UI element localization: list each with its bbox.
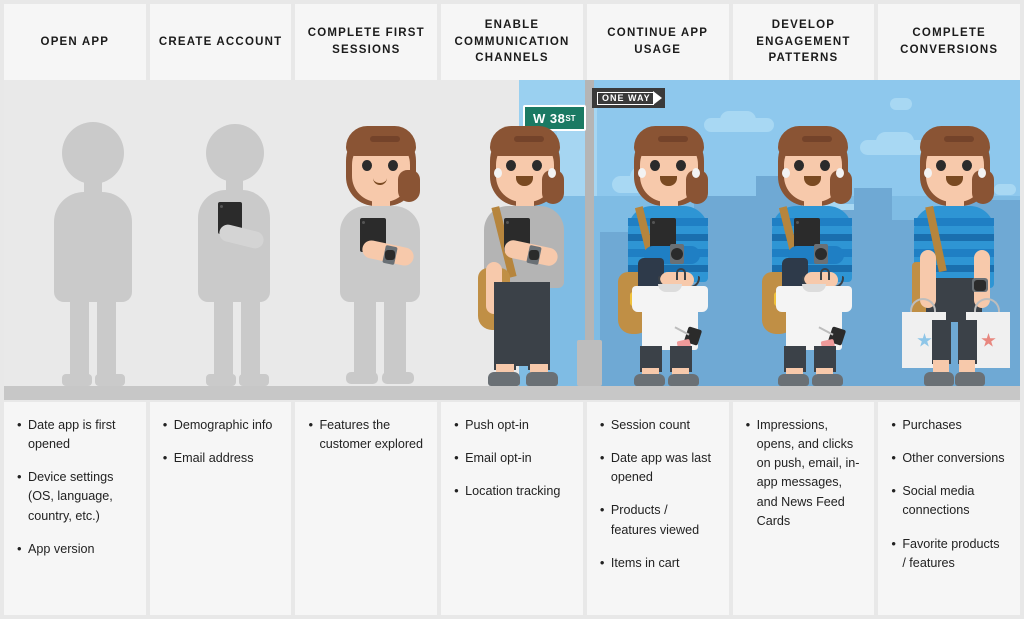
- detail-column-enable-communication-channels: Push opt-in Email opt-in Location tracki…: [441, 402, 583, 615]
- stage-header-complete-first-sessions: COMPLETE FIRST SESSIONS: [295, 4, 437, 80]
- detail-list: Session count Date app was last opened P…: [600, 416, 715, 573]
- one-way-sign: ONE WAY: [592, 88, 665, 108]
- stage-detail-row: Date app is first opened Device settings…: [0, 400, 1024, 619]
- watch-face: [815, 248, 827, 260]
- leg-right: [384, 298, 406, 378]
- hanger-hook: [676, 268, 686, 280]
- hair-wave: [944, 136, 974, 142]
- stripe-2: [914, 234, 994, 241]
- illustration-scene: W 38ST ONE WAY: [4, 80, 1020, 400]
- detail-column-continue-app-usage: Session count Date app was last opened P…: [587, 402, 729, 615]
- eye-left: [506, 160, 516, 171]
- eye-right: [820, 160, 830, 171]
- shoe-left: [778, 374, 809, 386]
- shoe-left: [634, 374, 665, 386]
- stage-label: CREATE ACCOUNT: [159, 34, 283, 51]
- detail-list: Demographic info Email address: [163, 416, 278, 468]
- stage-header-enable-communication-channels: ENABLE COMMUNICATION CHANNELS: [441, 4, 583, 80]
- watch-face: [385, 250, 395, 260]
- figure-woman-shopping-bags: [900, 122, 1012, 386]
- shoe-left: [346, 372, 378, 384]
- detail-column-develop-engagement-patterns: Impressions, opens, and clicks on push, …: [733, 402, 875, 615]
- figure-silhouette-plain: [40, 118, 150, 386]
- stage-label: DEVELOP ENGAGEMENT PATTERNS: [739, 17, 869, 67]
- earring-left: [782, 168, 790, 178]
- shoe-left: [62, 374, 92, 386]
- list-item: Email opt-in: [454, 449, 569, 468]
- hanger-hook: [820, 268, 830, 280]
- sidewalk-ground: [4, 386, 1020, 400]
- shoe-left: [488, 372, 520, 386]
- list-item: Push opt-in: [454, 416, 569, 435]
- list-item: Items in cart: [600, 554, 715, 573]
- leg-left: [70, 296, 89, 382]
- list-item: Other conversions: [891, 449, 1006, 468]
- tshirt-sleeve-left: [776, 286, 794, 312]
- eye-right: [676, 160, 686, 171]
- earring-right: [548, 168, 556, 178]
- stage-header-complete-conversions: COMPLETE CONVERSIONS: [878, 4, 1020, 80]
- figure-woman-gray-phone: [326, 122, 438, 386]
- leg-left: [214, 296, 233, 382]
- phone-camera: [362, 221, 365, 224]
- phone-camera: [652, 221, 655, 224]
- list-item: Favorite products / features: [891, 535, 1006, 573]
- list-item: Features the customer explored: [308, 416, 423, 454]
- arrow-right-icon: [653, 91, 662, 105]
- list-item: App version: [17, 540, 132, 559]
- shoe-right: [812, 374, 843, 386]
- shoe-right: [239, 374, 269, 386]
- stage-label: OPEN APP: [41, 34, 110, 51]
- tshirt-sleeve-right: [834, 286, 852, 312]
- shoe-left: [924, 372, 954, 386]
- eye-left: [794, 160, 804, 171]
- ankle-left: [933, 360, 949, 372]
- shoe-right: [95, 374, 125, 386]
- earring-right: [692, 168, 700, 178]
- hair-wave: [514, 136, 544, 142]
- leg-left: [354, 298, 376, 378]
- shoe-left: [206, 374, 236, 386]
- detail-list: Purchases Other conversions Social media…: [891, 416, 1006, 573]
- stage-label: ENABLE COMMUNICATION CHANNELS: [447, 17, 577, 67]
- shoe-right: [955, 372, 985, 386]
- eye-right: [962, 160, 972, 171]
- list-item: Session count: [600, 416, 715, 435]
- pant-leg-left: [494, 282, 516, 370]
- stage-header-continue-app-usage: CONTINUE APP USAGE: [587, 4, 729, 80]
- shoe-right: [526, 372, 558, 386]
- detail-column-open-app: Date app is first opened Device settings…: [4, 402, 146, 615]
- stage-label: COMPLETE CONVERSIONS: [884, 25, 1014, 58]
- shoe-right: [668, 374, 699, 386]
- stage-header-develop-engagement-patterns: DEVELOP ENGAGEMENT PATTERNS: [733, 4, 875, 80]
- list-item: Purchases: [891, 416, 1006, 435]
- earring-left: [494, 168, 502, 178]
- ponytail: [398, 170, 420, 202]
- pant-leg-right: [958, 320, 977, 364]
- hair-wave: [802, 136, 832, 142]
- earring-left: [924, 168, 932, 178]
- phone-camera: [796, 221, 799, 224]
- stage-header-create-account: CREATE ACCOUNT: [150, 4, 292, 80]
- detail-column-create-account: Demographic info Email address: [150, 402, 292, 615]
- torso: [54, 192, 132, 302]
- detail-list: Date app is first opened Device settings…: [17, 416, 132, 559]
- lifecycle-funnel-board: OPEN APP CREATE ACCOUNT COMPLETE FIRST S…: [0, 0, 1024, 619]
- ankle-right: [959, 360, 975, 372]
- figure-woman-striped-tshirt-2: [758, 122, 870, 386]
- list-item: Location tracking: [454, 482, 569, 501]
- leg-right: [97, 296, 116, 382]
- pant-leg-left: [932, 320, 951, 364]
- detail-list: Impressions, opens, and clicks on push, …: [746, 416, 861, 531]
- list-item: Demographic info: [163, 416, 278, 435]
- one-way-label: ONE WAY: [597, 92, 654, 105]
- stage-label: COMPLETE FIRST SESSIONS: [301, 25, 431, 58]
- phone-camera: [506, 221, 509, 224]
- cloud-5: [890, 98, 912, 110]
- figure-woman-bag-phone: [470, 122, 582, 386]
- list-item: Date app was last opened: [600, 449, 715, 487]
- list-item: Date app is first opened: [17, 416, 132, 454]
- pant-leg-right: [528, 282, 550, 370]
- watch-face: [529, 250, 539, 260]
- eye-left: [936, 160, 946, 171]
- hair-wave: [658, 136, 688, 142]
- eye-left: [362, 160, 372, 171]
- list-item: Social media connections: [891, 482, 1006, 520]
- watch-face: [974, 280, 986, 291]
- eye-left: [650, 160, 660, 171]
- eye-right: [388, 160, 398, 171]
- stripe-1: [914, 218, 994, 226]
- stage-header-open-app: OPEN APP: [4, 4, 146, 80]
- list-item: Email address: [163, 449, 278, 468]
- earring-left: [638, 168, 646, 178]
- list-item: Products / features viewed: [600, 501, 715, 539]
- detail-list: Features the customer explored: [308, 416, 423, 454]
- street-pole: [585, 80, 594, 370]
- stage-header-row: OPEN APP CREATE ACCOUNT COMPLETE FIRST S…: [0, 0, 1024, 80]
- figure-woman-striped-tshirt: [614, 122, 726, 386]
- leg-right: [241, 296, 260, 382]
- detail-column-complete-conversions: Purchases Other conversions Social media…: [878, 402, 1020, 615]
- stage-label: CONTINUE APP USAGE: [593, 25, 723, 58]
- head: [62, 122, 124, 184]
- tshirt-sleeve-left: [632, 286, 650, 312]
- watch-face: [671, 248, 683, 260]
- list-item: Device settings (OS, language, country, …: [17, 468, 132, 525]
- earring-right: [836, 168, 844, 178]
- earring-right: [978, 168, 986, 178]
- hair-wave: [370, 136, 400, 142]
- shoe-right: [382, 372, 414, 384]
- figure-silhouette-phone: [186, 118, 296, 386]
- list-item: Impressions, opens, and clicks on push, …: [746, 416, 861, 531]
- detail-column-complete-first-sessions: Features the customer explored: [295, 402, 437, 615]
- tshirt-sleeve-right: [690, 286, 708, 312]
- phone-camera: [220, 205, 223, 208]
- detail-list: Push opt-in Email opt-in Location tracki…: [454, 416, 569, 501]
- eye-right: [532, 160, 542, 171]
